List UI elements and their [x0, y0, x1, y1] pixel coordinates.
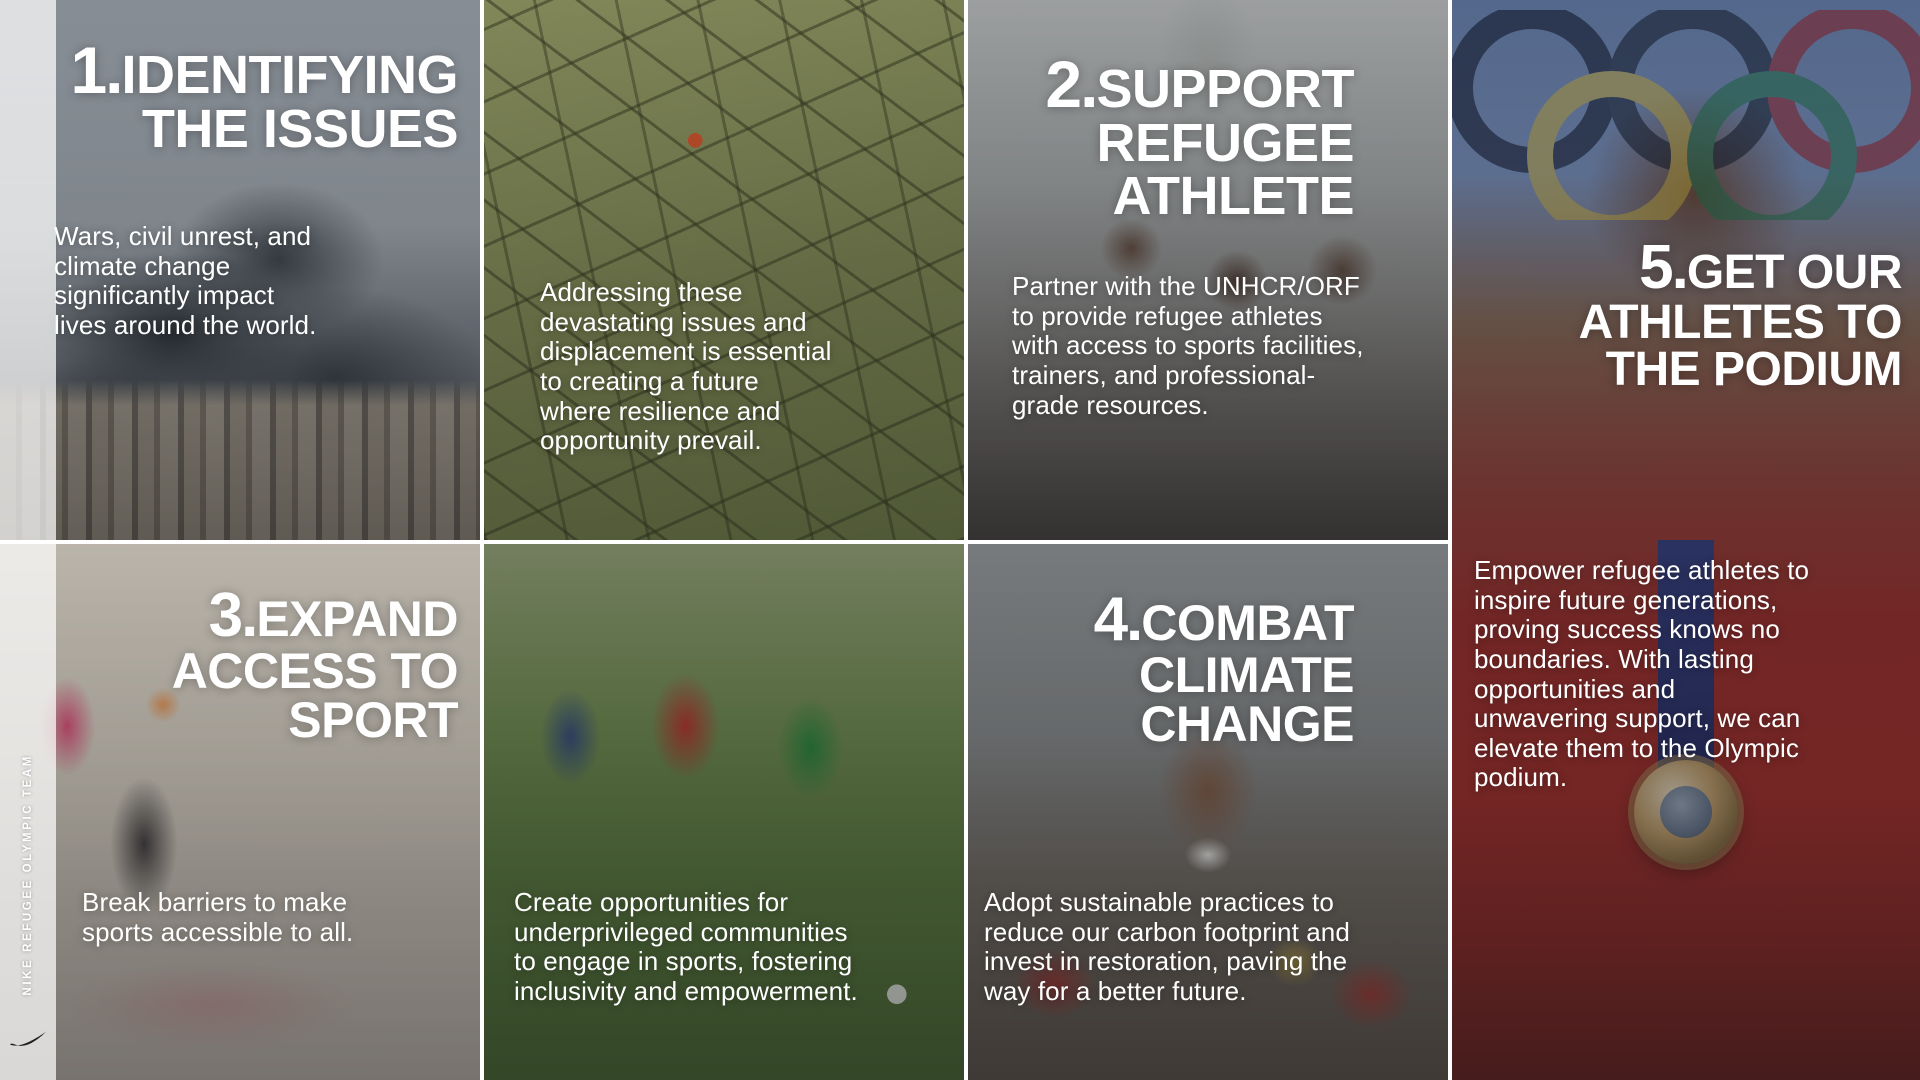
panel-5-body: Create opportunities for underprivileged…: [514, 888, 954, 1007]
panel-4-headline-line-1: EXPAND: [256, 591, 458, 647]
panel-addressing-issues: Addressing these devastating issues and …: [484, 0, 964, 540]
panel-6-headline-line-3: CHANGE: [1140, 696, 1354, 752]
panel-support-refugee-athlete: 2.SUPPORT REFUGEE ATHLETE Partner with t…: [968, 0, 1448, 540]
panel-combat-climate-change: 4.COMBAT CLIMATE CHANGE Adopt sustainabl…: [968, 544, 1448, 1080]
panel-1-headline-line-2: THE ISSUES: [142, 99, 458, 159]
panel-7-number: 5.: [1639, 233, 1687, 302]
panel-3-number: 2.: [1045, 47, 1096, 121]
panel-3-headline: 2.SUPPORT REFUGEE ATHLETE: [968, 52, 1354, 222]
gutter-column-3: [1448, 0, 1452, 1080]
panel-4-number: 3.: [209, 581, 257, 650]
panel-3-headline-line-2: REFUGEE: [1096, 113, 1354, 173]
panel-4-headline-line-2: ACCESS TO: [172, 643, 458, 699]
infographic-canvas: 1.IDENTIFYING THE ISSUES Wars, civil unr…: [0, 0, 1920, 1080]
panel-4-body: Break barriers to make sports accessible…: [82, 888, 462, 947]
panel-6-headline-line-2: CLIMATE: [1139, 647, 1354, 703]
panel-3-headline-line-3: ATHLETE: [1113, 166, 1354, 226]
brand-rail-label: NIKE REFUGEE OLYMPIC TEAM: [22, 754, 34, 996]
panel-expand-access-to-sport: 3.EXPAND ACCESS TO SPORT Break barriers …: [0, 544, 480, 1080]
panel-6-body: Adopt sustainable practices to reduce ou…: [984, 888, 1434, 1007]
panel-6-headline-line-1: COMBAT: [1141, 595, 1354, 651]
panel-1-headline-line-1: IDENTIFYING: [121, 45, 458, 105]
panel-get-our-athletes-to-the-podium: 5.GET OUR ATHLETES TO THE PODIUM Empower…: [1452, 0, 1920, 1080]
panel-3-body: Partner with the UNHCR/ORF to provide re…: [1012, 272, 1432, 420]
gutter-row-1: [0, 540, 1448, 544]
panel-7-headline-line-1: GET OUR: [1687, 246, 1902, 299]
panel-identifying-the-issues: 1.IDENTIFYING THE ISSUES Wars, civil unr…: [0, 0, 480, 540]
brand-rail: NIKE REFUGEE OLYMPIC TEAM: [0, 0, 56, 1080]
panel-3-headline-line-1: SUPPORT: [1096, 59, 1354, 119]
nike-swoosh-logo: [8, 1022, 48, 1056]
panel-6-number: 4.: [1094, 585, 1142, 654]
panel-4-headline-line-3: SPORT: [288, 692, 458, 748]
panel-2-body: Addressing these devastating issues and …: [540, 278, 940, 456]
panel-6-headline: 4.COMBAT CLIMATE CHANGE: [968, 590, 1354, 749]
panel-7-headline: 5.GET OUR ATHLETES TO THE PODIUM: [1462, 238, 1902, 393]
panel-create-opportunities: Create opportunities for underprivileged…: [484, 544, 964, 1080]
panel-7-body: Empower refugee athletes to inspire futu…: [1474, 556, 1904, 793]
panel-7-headline-line-2: ATHLETES TO: [1579, 296, 1902, 349]
panel-7-headline-line-3: THE PODIUM: [1606, 343, 1902, 396]
panel-1-number: 1.: [70, 33, 121, 107]
panel-1-headline: 1.IDENTIFYING THE ISSUES: [38, 38, 458, 156]
panel-1-body: Wars, civil unrest, and climate change s…: [54, 222, 414, 341]
panel-4-headline: 3.EXPAND ACCESS TO SPORT: [38, 586, 458, 745]
